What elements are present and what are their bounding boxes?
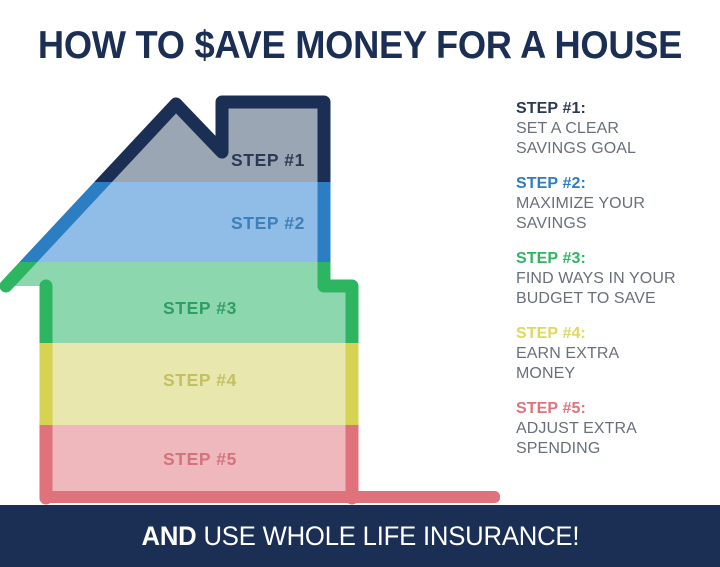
step-item-5: STEP #5: ADJUST EXTRA SPENDING bbox=[516, 399, 716, 459]
house-band-label-step4: STEP #4 bbox=[163, 370, 237, 390]
step-item-4: STEP #4: EARN EXTRA MONEY bbox=[516, 324, 716, 384]
step-4-desc-line-1: EARN EXTRA bbox=[516, 344, 716, 364]
house-band-label-step2: STEP #2 bbox=[231, 213, 305, 233]
step-1-desc-line-2: SAVINGS GOAL bbox=[516, 139, 716, 159]
house-baseline bbox=[42, 491, 500, 503]
banner-lead: AND bbox=[141, 521, 196, 551]
step-item-3: STEP #3: FIND WAYS IN YOUR BUDGET TO SAV… bbox=[516, 249, 716, 309]
step-2-heading: STEP #2: bbox=[516, 174, 716, 194]
house-diagram: STEP #1 STEP #2 STEP #3 STEP #4 STEP #5 bbox=[0, 86, 510, 506]
house-band-label-step5: STEP #5 bbox=[163, 449, 237, 469]
step-4-desc-line-2: MONEY bbox=[516, 364, 716, 384]
step-item-1: STEP #1: SET A CLEAR SAVINGS GOAL bbox=[516, 99, 716, 159]
house-color-bands bbox=[0, 86, 510, 506]
house-band-label-step1: STEP #1 bbox=[231, 150, 305, 170]
step-5-desc-line-1: ADJUST EXTRA bbox=[516, 419, 716, 439]
band-fill-step4 bbox=[0, 343, 510, 425]
step-5-desc-line-2: SPENDING bbox=[516, 439, 716, 459]
page-title: HOW TO $AVE MONEY FOR A HOUSE bbox=[25, 24, 695, 68]
infographic-page: HOW TO $AVE MONEY FOR A HOUSE bbox=[0, 0, 720, 567]
bottom-banner: AND USE WHOLE LIFE INSURANCE! bbox=[0, 505, 720, 567]
step-3-desc-line-1: FIND WAYS IN YOUR bbox=[516, 269, 716, 289]
step-3-heading: STEP #3: bbox=[516, 249, 716, 269]
house-band-label-step3: STEP #3 bbox=[163, 298, 237, 318]
step-1-heading: STEP #1: bbox=[516, 99, 716, 119]
step-3-desc-line-2: BUDGET TO SAVE bbox=[516, 289, 716, 309]
step-4-heading: STEP #4: bbox=[516, 324, 716, 344]
banner-text: AND USE WHOLE LIFE INSURANCE! bbox=[141, 521, 579, 551]
step-2-desc-line-1: MAXIMIZE YOUR bbox=[516, 194, 716, 214]
step-item-2: STEP #2: MAXIMIZE YOUR SAVINGS bbox=[516, 174, 716, 234]
step-2-desc-line-2: SAVINGS bbox=[516, 214, 716, 234]
step-5-heading: STEP #5: bbox=[516, 399, 716, 419]
band-fill-step3 bbox=[0, 262, 510, 343]
steps-list: STEP #1: SET A CLEAR SAVINGS GOAL STEP #… bbox=[516, 99, 716, 459]
house-svg: STEP #1 STEP #2 STEP #3 STEP #4 STEP #5 bbox=[0, 86, 510, 506]
step-1-desc-line-1: SET A CLEAR bbox=[516, 119, 716, 139]
banner-rest: USE WHOLE LIFE INSURANCE! bbox=[196, 521, 579, 551]
